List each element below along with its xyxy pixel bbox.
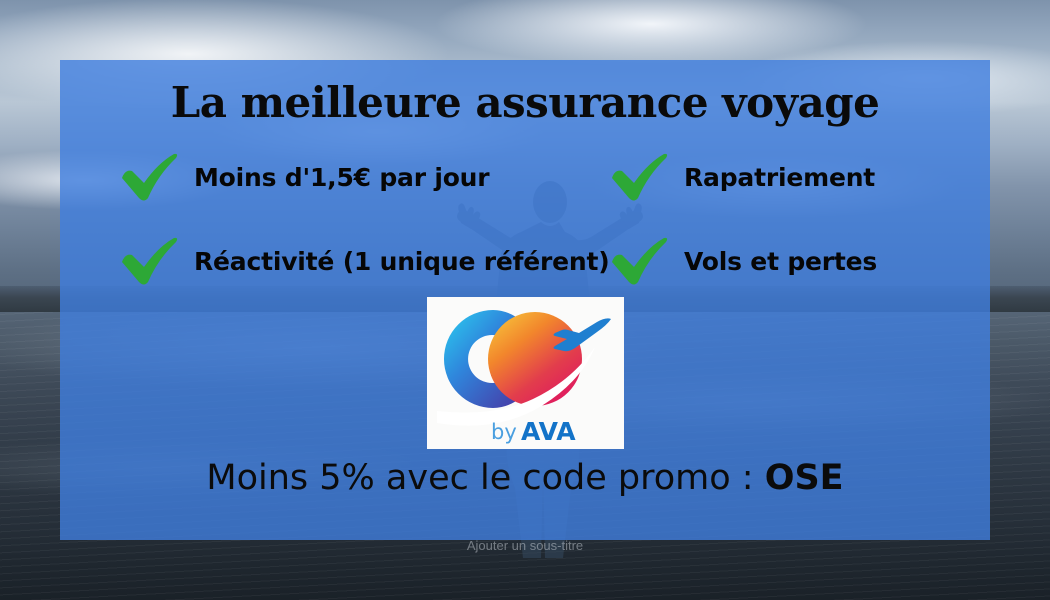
feature-item-price: Moins d'1,5€ par jour xyxy=(118,146,489,208)
green-check-icon xyxy=(118,146,180,208)
feature-item-repatriation: Rapatriement xyxy=(608,146,875,208)
logo-brand-ava: AVA xyxy=(521,417,576,446)
feature-label: Vols et pertes xyxy=(684,247,877,276)
go-by-ava-logo: by AVA xyxy=(427,297,624,449)
feature-item-reactivity: Réactivité (1 unique référent) xyxy=(118,230,610,292)
green-check-icon xyxy=(608,230,670,292)
feature-label: Rapatriement xyxy=(684,163,875,192)
feature-label: Moins d'1,5€ par jour xyxy=(194,163,489,192)
page-title: La meilleure assurance voyage xyxy=(60,78,990,127)
logo-tagline-by: by xyxy=(491,420,517,444)
green-check-icon xyxy=(118,230,180,292)
green-check-icon xyxy=(608,146,670,208)
feature-item-theft-loss: Vols et pertes xyxy=(608,230,877,292)
promo-code: OSE xyxy=(765,458,844,498)
feature-list: Moins d'1,5€ par jour Rapatriement xyxy=(60,146,990,314)
subtitle-placeholder[interactable]: Ajouter un sous-titre xyxy=(0,538,1050,553)
promo-line: Moins 5% avec le code promo : OSE xyxy=(60,458,990,498)
feature-label: Réactivité (1 unique référent) xyxy=(194,247,610,276)
promo-prefix: Moins 5% avec le code promo : xyxy=(206,458,764,498)
feature-row: Moins d'1,5€ par jour Rapatriement xyxy=(60,146,990,230)
slide-canvas: La meilleure assurance voyage Moins d'1,… xyxy=(0,0,1050,600)
blue-content-panel: La meilleure assurance voyage Moins d'1,… xyxy=(60,60,990,540)
